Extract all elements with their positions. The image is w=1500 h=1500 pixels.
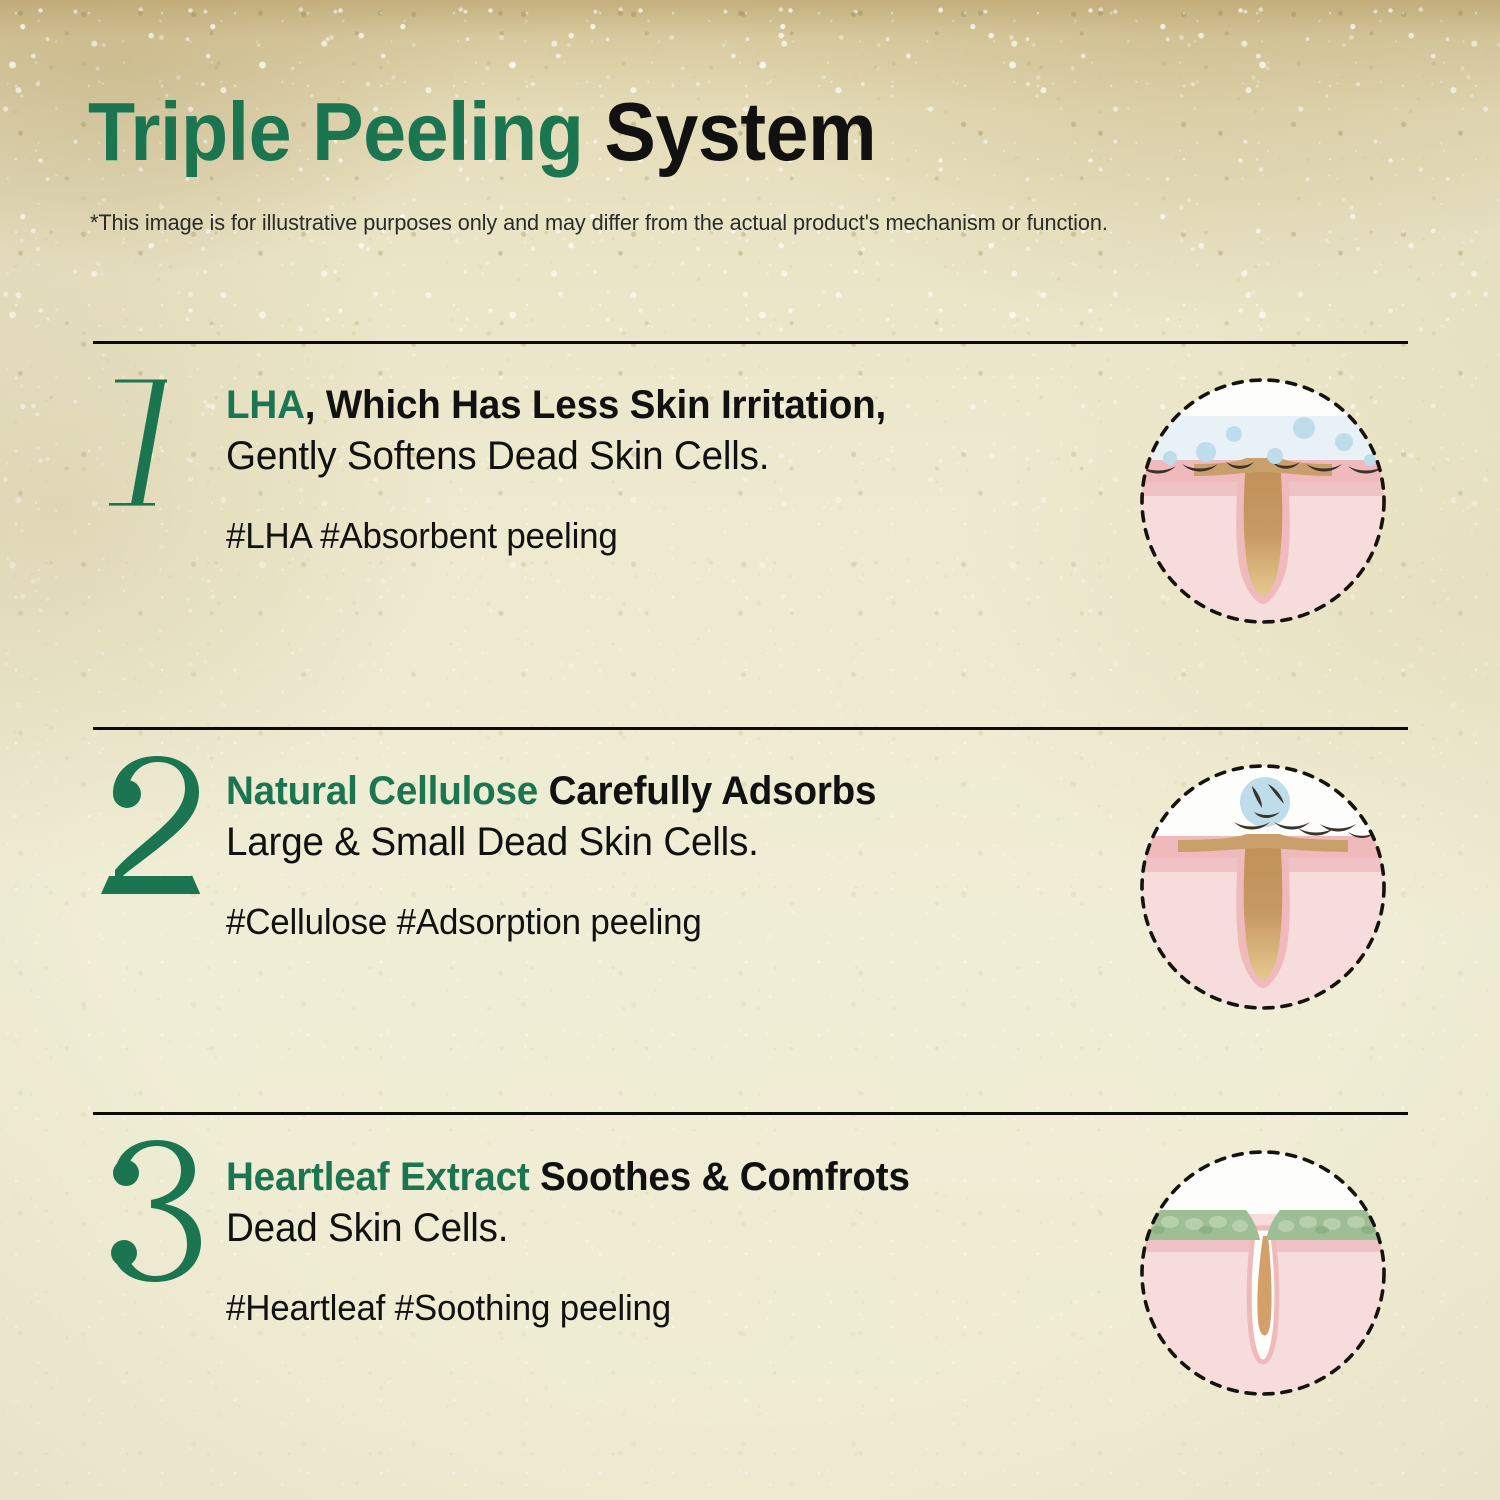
disclaimer-text: *This image is for illustrative purposes… [90,209,1108,237]
step-item-3: Heartleaf Extract Soothes & ComfrotsDead… [88,1152,1418,1452]
step-headline-bold-2: Carefully Adsorbs [538,769,876,813]
step-headline-1: LHA, Which Has Less Skin Irritation,Gent… [226,380,1133,482]
step-headline-2: Natural Cellulose Carefully AdsorbsLarge… [226,766,1133,868]
step-number-one [95,364,215,514]
step-tags-2: #Cellulose #Adsorption peeling [226,900,702,943]
step-headline-lead-3: Heartleaf Extract [226,1155,530,1199]
step-text-block-1: LHA, Which Has Less Skin Irritation,Gent… [226,380,1166,482]
step-text-block-3: Heartleaf Extract Soothes & ComfrotsDead… [226,1152,1166,1254]
skin-cross-section-cellulose-adsorbing [1134,758,1392,1016]
step-text-block-2: Natural Cellulose Carefully AdsorbsLarge… [226,766,1166,868]
skin-cross-section-heartleaf-soothing [1134,1144,1392,1402]
infographic-page: Triple Peeling System *This image is for… [0,0,1500,1500]
step-headline-lead-2: Natural Cellulose [226,769,538,813]
page-title-accent: Triple Peeling [88,85,583,178]
step-item-2: Natural Cellulose Carefully AdsorbsLarge… [88,766,1418,1066]
page-title: Triple Peeling System [88,92,1325,172]
divider-rule-bottom [93,1112,1408,1115]
step-headline-lead-1: LHA [226,383,305,427]
divider-rule-top [93,341,1408,344]
step-headline-bold-1: , Which Has Less Skin Irritation, [305,383,886,427]
page-title-rest: System [583,85,876,178]
step-headline-line2-2: Large & Small Dead Skin Cells. [226,817,1133,868]
step-headline-3: Heartleaf Extract Soothes & ComfrotsDead… [226,1152,1133,1254]
step-item-1: LHA, Which Has Less Skin Irritation,Gent… [88,380,1418,680]
step-tags-1: #LHA #Absorbent peeling [226,514,618,557]
header: Triple Peeling System *This image is for… [88,92,1418,172]
step-headline-bold-3: Soothes & Comfrots [530,1155,910,1199]
step-tags-3: #Heartleaf #Soothing peeling [226,1286,671,1329]
step-headline-line2-3: Dead Skin Cells. [226,1203,1133,1254]
step-headline-line2-1: Gently Softens Dead Skin Cells. [226,431,1133,482]
skin-cross-section-lha-softening [1134,372,1392,630]
step-number-three [95,1136,215,1286]
step-number-two [95,750,215,900]
divider-rule-middle [93,727,1408,730]
